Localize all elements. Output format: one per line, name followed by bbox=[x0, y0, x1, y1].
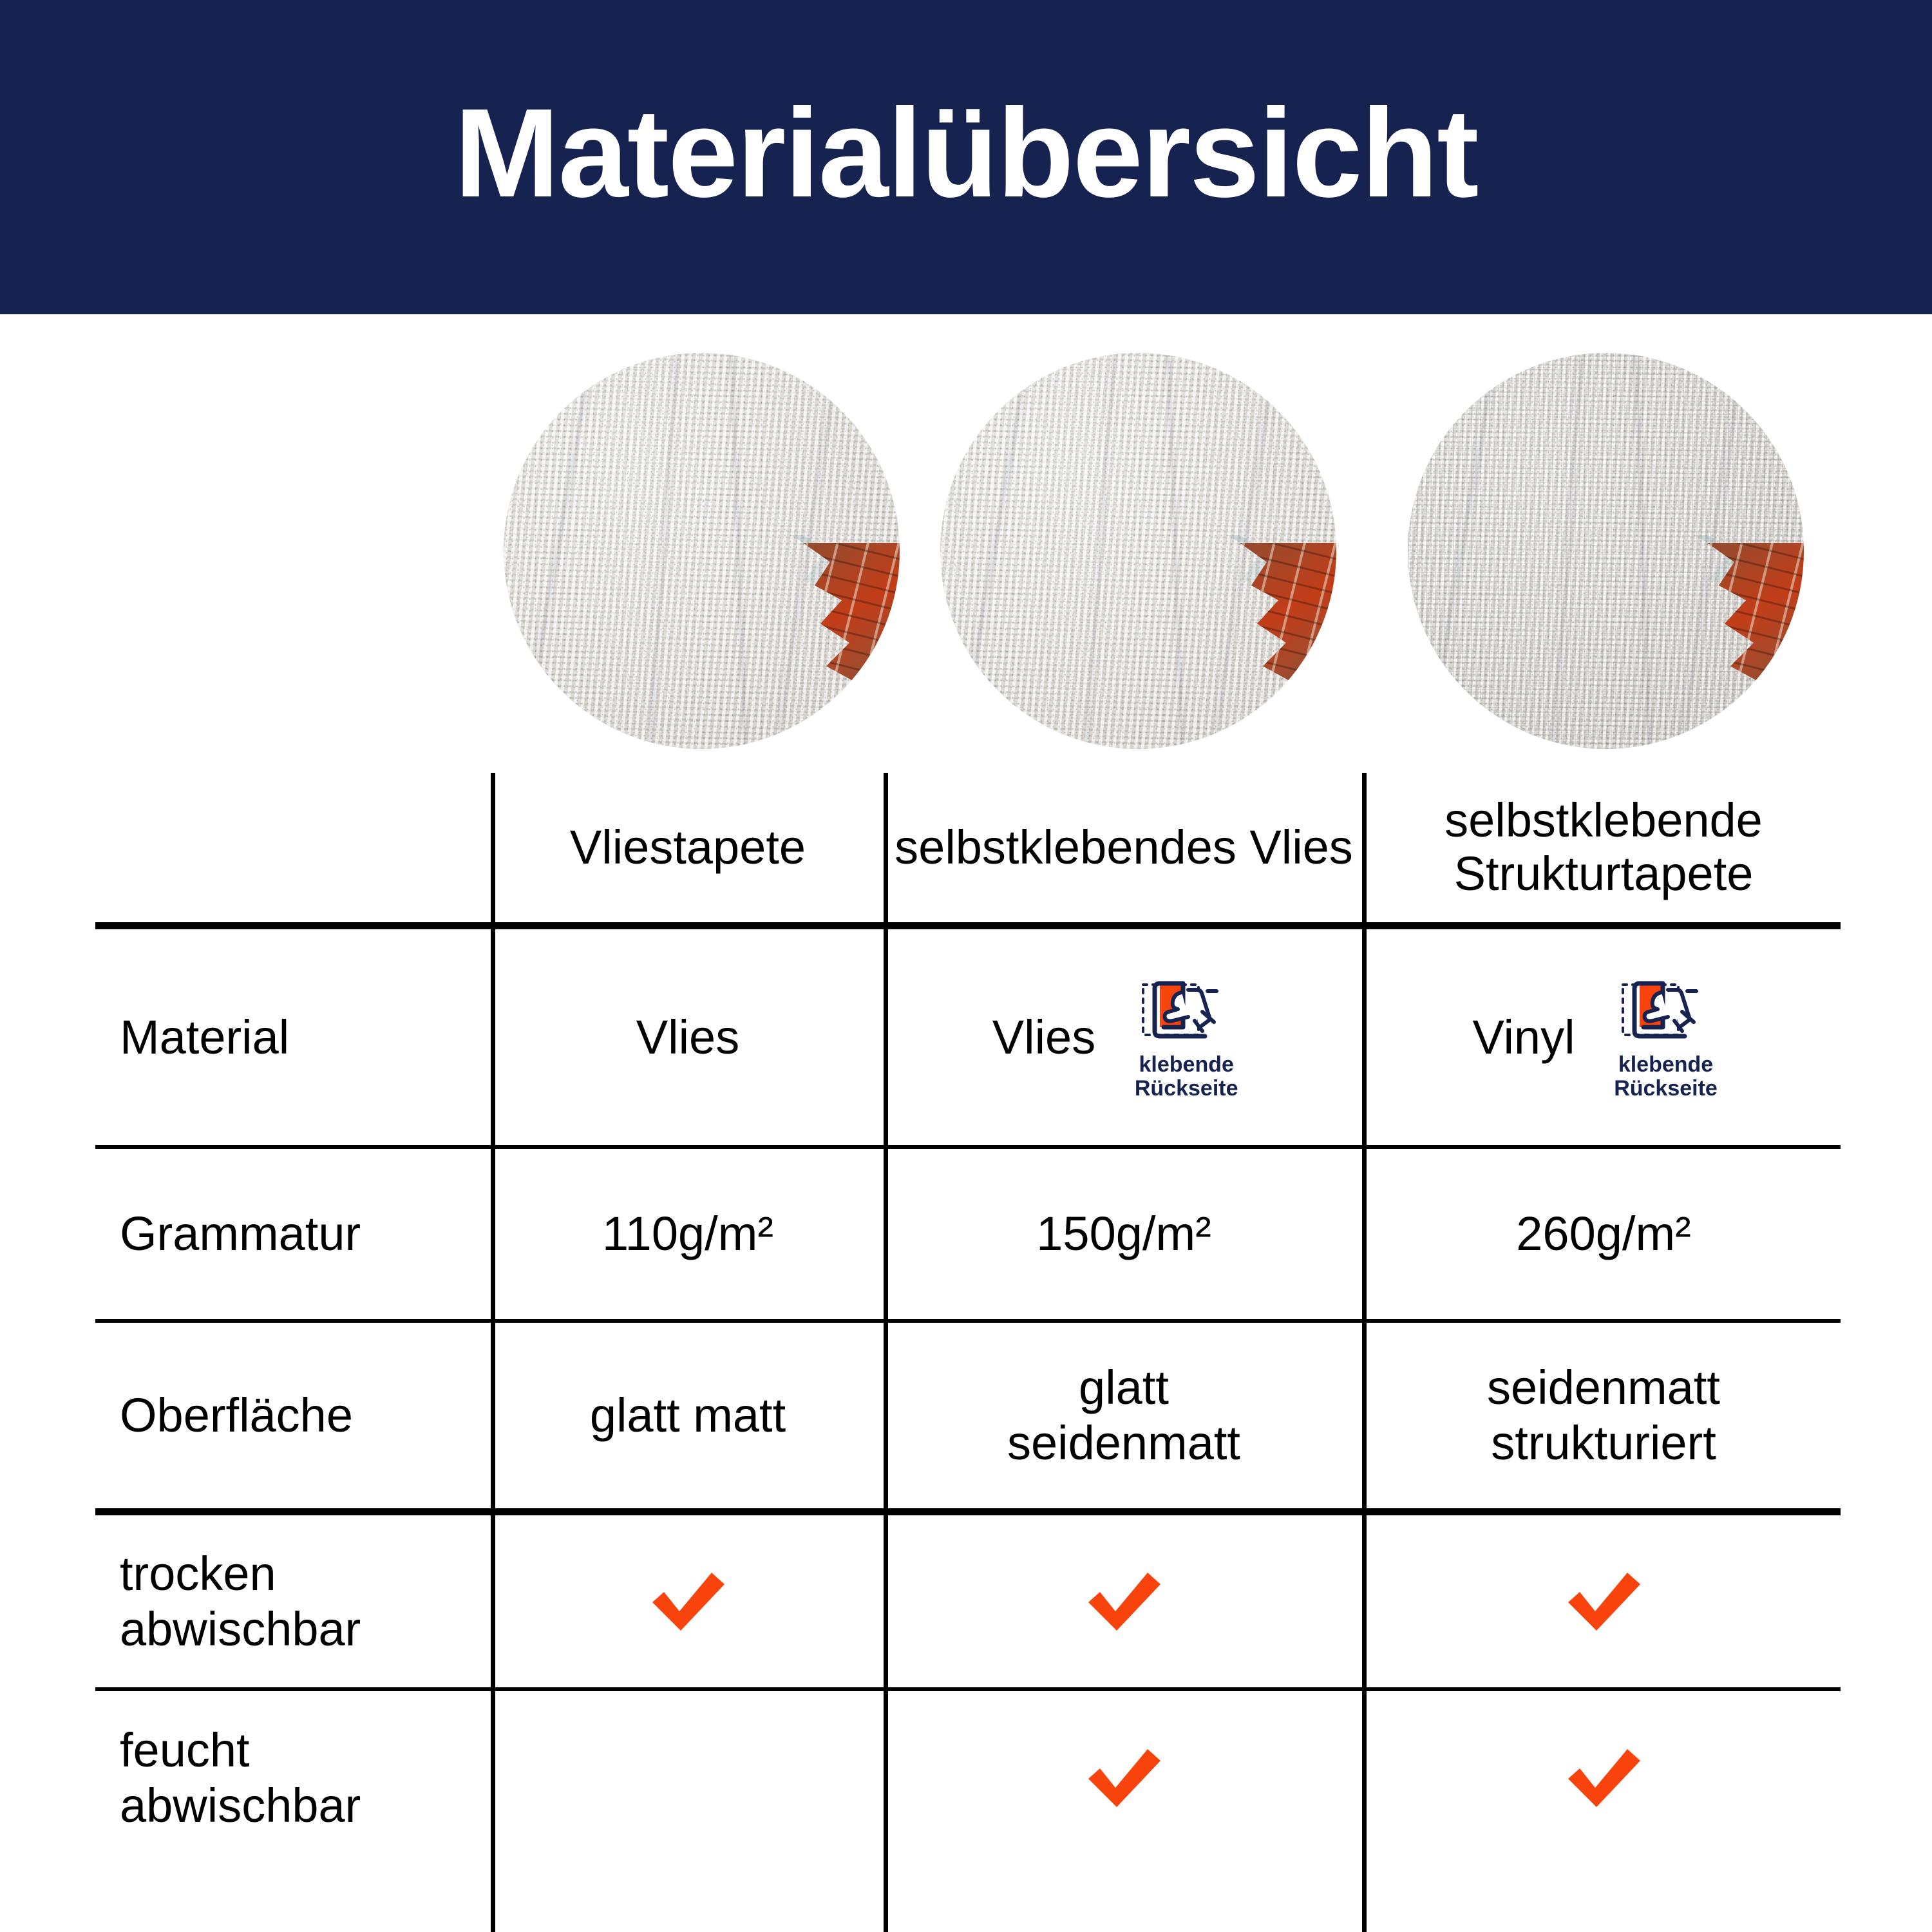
cell-material-selbstklebende-strukturtapete: Vinyl bbox=[1368, 929, 1839, 1145]
cell-value: 110g/m² bbox=[602, 1206, 773, 1262]
cell-feucht-selbstklebende-strukturtapete bbox=[1368, 1691, 1839, 1865]
checkmark-icon bbox=[639, 1562, 736, 1641]
cell-value: seidenmatt strukturiert bbox=[1487, 1360, 1720, 1471]
cell-value: Vlies bbox=[992, 1010, 1095, 1065]
cell-value: Vinyl bbox=[1472, 1010, 1575, 1065]
column-divider-1 bbox=[491, 773, 495, 1932]
cell-material-selbstklebendes-vlies: Vlies bbox=[890, 929, 1358, 1145]
row-label-material: Material bbox=[95, 929, 488, 1145]
material-overview-infographic: Materialübersicht bbox=[0, 0, 1932, 1932]
header-rule bbox=[95, 922, 1841, 929]
adhesive-back-badge: klebende Rückseite bbox=[1117, 974, 1255, 1100]
column-header-2: selbstklebendes Vlies bbox=[890, 773, 1358, 922]
adhesive-back-badge-label: klebende Rückseite bbox=[1135, 1053, 1238, 1100]
cell-trocken-vliestapete bbox=[496, 1515, 880, 1687]
cell-grammatur-vliestapete: 110g/m² bbox=[496, 1149, 880, 1319]
cell-oberflaeche-vliestapete: glatt matt bbox=[496, 1323, 880, 1508]
cell-trocken-selbstklebendes-vlies bbox=[890, 1515, 1358, 1687]
cell-value: Vlies bbox=[636, 1010, 739, 1065]
row-label-material-text: Material bbox=[120, 1010, 289, 1065]
row-label-grammatur-text: Grammatur bbox=[120, 1206, 361, 1262]
checkmark-icon bbox=[1555, 1739, 1652, 1817]
row-label-feucht-abwischbar-text: feucht abwischbar bbox=[120, 1723, 361, 1833]
column-header-1: Vliestapete bbox=[496, 773, 880, 922]
row-label-oberflaeche-text: Oberfläche bbox=[120, 1388, 353, 1443]
comparison-table: Vliestapete selbstklebendes Vlies selbst… bbox=[0, 0, 1932, 1932]
column-header-1-label: Vliestapete bbox=[570, 821, 806, 875]
cell-value: glatt matt bbox=[590, 1388, 786, 1443]
row-label-grammatur: Grammatur bbox=[95, 1149, 488, 1319]
checkmark-icon bbox=[1075, 1739, 1172, 1817]
cell-oberflaeche-selbstklebendes-vlies: glatt seidenmatt bbox=[890, 1323, 1358, 1508]
cell-trocken-selbstklebende-strukturtapete bbox=[1368, 1515, 1839, 1687]
cell-value: 150g/m² bbox=[1036, 1206, 1211, 1262]
column-divider-3 bbox=[1362, 773, 1367, 1932]
cell-material-vliestapete: Vlies bbox=[496, 929, 880, 1145]
adhesive-back-badge-label: klebende Rückseite bbox=[1614, 1053, 1718, 1100]
column-divider-2 bbox=[884, 773, 888, 1932]
checkmark-icon bbox=[1075, 1562, 1172, 1641]
column-header-3-label: selbstklebende Strukturtapete bbox=[1368, 794, 1839, 901]
cell-value: glatt seidenmatt bbox=[1007, 1360, 1240, 1471]
checkmark-icon bbox=[1555, 1562, 1652, 1641]
row-rule-3 bbox=[95, 1508, 1841, 1515]
peel-hand-icon bbox=[1618, 974, 1714, 1050]
column-header-2-label: selbstklebendes Vlies bbox=[895, 821, 1353, 875]
cell-grammatur-selbstklebende-strukturtapete: 260g/m² bbox=[1368, 1149, 1839, 1319]
cell-oberflaeche-selbstklebende-strukturtapete: seidenmatt strukturiert bbox=[1368, 1323, 1839, 1508]
cell-value: 260g/m² bbox=[1516, 1206, 1690, 1262]
row-label-oberflaeche: Oberfläche bbox=[95, 1323, 488, 1508]
row-label-trocken-abwischbar-text: trocken abwischbar bbox=[120, 1546, 361, 1657]
column-header-3: selbstklebende Strukturtapete bbox=[1368, 773, 1839, 922]
peel-hand-icon bbox=[1138, 974, 1235, 1050]
cell-feucht-vliestapete bbox=[496, 1691, 880, 1865]
cell-feucht-selbstklebendes-vlies bbox=[890, 1691, 1358, 1865]
row-label-trocken-abwischbar: trocken abwischbar bbox=[95, 1515, 488, 1687]
cell-grammatur-selbstklebendes-vlies: 150g/m² bbox=[890, 1149, 1358, 1319]
adhesive-back-badge: klebende Rückseite bbox=[1597, 974, 1735, 1100]
row-label-feucht-abwischbar: feucht abwischbar bbox=[95, 1691, 488, 1865]
